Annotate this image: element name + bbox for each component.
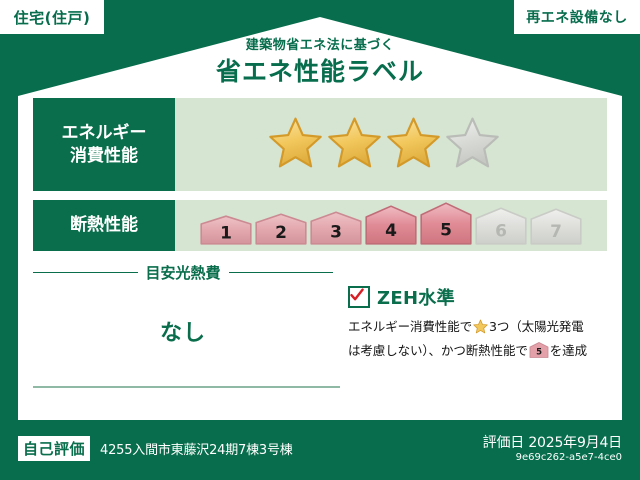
utility-cost-heading: 目安光熱費 (33, 262, 333, 283)
row-insulation-label: 断熱性能 (33, 200, 175, 251)
property-address: 4255入間市東藤沢24期7棟3号棟 (100, 439, 293, 458)
zeh-desc-part2: 3つ（太陽光発電 (489, 319, 584, 334)
badge-building-type: 住宅(住戸) (0, 0, 104, 34)
label-panel: エネルギー 消費性能 断熱性能 1234567 目安光熱費 なし (18, 92, 622, 417)
evaluation-id: 9e69c262-a5e7-4ce0 (516, 452, 622, 463)
checkmark-icon (349, 287, 365, 303)
label-title-block: 建築物省エネ法に基づく 省エネ性能ラベル (0, 38, 640, 87)
svg-text:1: 1 (220, 223, 232, 243)
zeh-desc-part3: は考慮しない）、かつ断熱性能で (348, 343, 528, 358)
row-energy-label-line1: エネルギー (62, 122, 147, 145)
insulation-level-7: 7 (530, 208, 582, 249)
svg-text:3: 3 (330, 223, 342, 243)
svg-text:4: 4 (385, 221, 397, 241)
label-footer: 自己評価 4255入間市東藤沢24期7棟3号棟 評価日 2025年9月4日 9e… (0, 422, 640, 480)
utility-cost-heading-text: 目安光熱費 (146, 262, 221, 283)
row-energy-label-line2: 消費性能 (70, 145, 138, 168)
zeh-checkbox (348, 286, 370, 308)
star-icon (473, 319, 488, 341)
self-evaluation-badge: 自己評価 (18, 436, 90, 461)
insulation-level-3: 3 (310, 211, 362, 249)
evaluation-date-label: 評価日 (483, 435, 524, 451)
badge-building-type-label: 住宅(住戸) (14, 7, 91, 28)
zeh-standard-description: エネルギー消費性能で 3つ（太陽光発電 は考慮しない）、かつ断熱性能で 5 を達… (348, 317, 610, 364)
insulation-level-2: 2 (255, 213, 307, 249)
badge-renewable-energy: 再エネ設備なし (514, 0, 640, 34)
utility-cost-block: 目安光熱費 なし (33, 262, 333, 347)
star-rating (268, 116, 500, 173)
zeh-desc-part4: を達成 (550, 343, 587, 358)
label-subtitle: 建築物省エネ法に基づく (0, 38, 640, 54)
star-icon-filled (268, 116, 323, 173)
insulation-level-1: 1 (200, 215, 252, 249)
row-energy-value (175, 98, 607, 191)
zeh-standard-block: ZEH水準 エネルギー消費性能で 3つ（太陽光発電 は考慮しない）、かつ断熱性能… (348, 284, 610, 364)
insulation-level-5: 5 (420, 202, 472, 249)
insulation-level-4: 4 (365, 205, 417, 249)
row-insulation-performance: 断熱性能 1234567 (33, 200, 607, 251)
row-insulation-label-text: 断熱性能 (70, 214, 138, 237)
label-main-title: 省エネ性能ラベル (0, 56, 640, 87)
zeh-desc-part1: エネルギー消費性能で (348, 319, 472, 334)
evaluation-date: 評価日 2025年9月4日 (483, 432, 622, 452)
insulation-badge-icon: 5 (529, 342, 549, 365)
energy-label-root: 住宅(住戸) 再エネ設備なし 建築物省エネ法に基づく 省エネ性能ラベル エネルギ… (0, 0, 640, 480)
zeh-standard-heading: ZEH水準 (348, 284, 610, 310)
star-icon-empty (445, 116, 500, 173)
row-energy-label: エネルギー 消費性能 (33, 98, 175, 191)
zeh-standard-title: ZEH水準 (377, 284, 455, 310)
svg-text:2: 2 (275, 223, 287, 243)
row-insulation-value: 1234567 (175, 200, 607, 251)
utility-cost-value: なし (33, 315, 333, 347)
heading-rule-left (33, 272, 138, 273)
badge-renewable-energy-label: 再エネ設備なし (526, 7, 628, 27)
row-energy-performance: エネルギー 消費性能 (33, 98, 607, 191)
svg-text:7: 7 (550, 222, 562, 242)
svg-text:5: 5 (440, 221, 452, 241)
evaluation-date-value: 2025年9月4日 (528, 435, 622, 451)
svg-text:6: 6 (495, 222, 507, 242)
insulation-level-scale: 1234567 (200, 202, 582, 249)
svg-text:5: 5 (536, 347, 542, 357)
panel-bottom-divider (33, 386, 340, 388)
heading-rule-right (229, 272, 334, 273)
insulation-level-6: 6 (475, 207, 527, 249)
star-icon-filled (386, 116, 441, 173)
star-icon-filled (327, 116, 382, 173)
